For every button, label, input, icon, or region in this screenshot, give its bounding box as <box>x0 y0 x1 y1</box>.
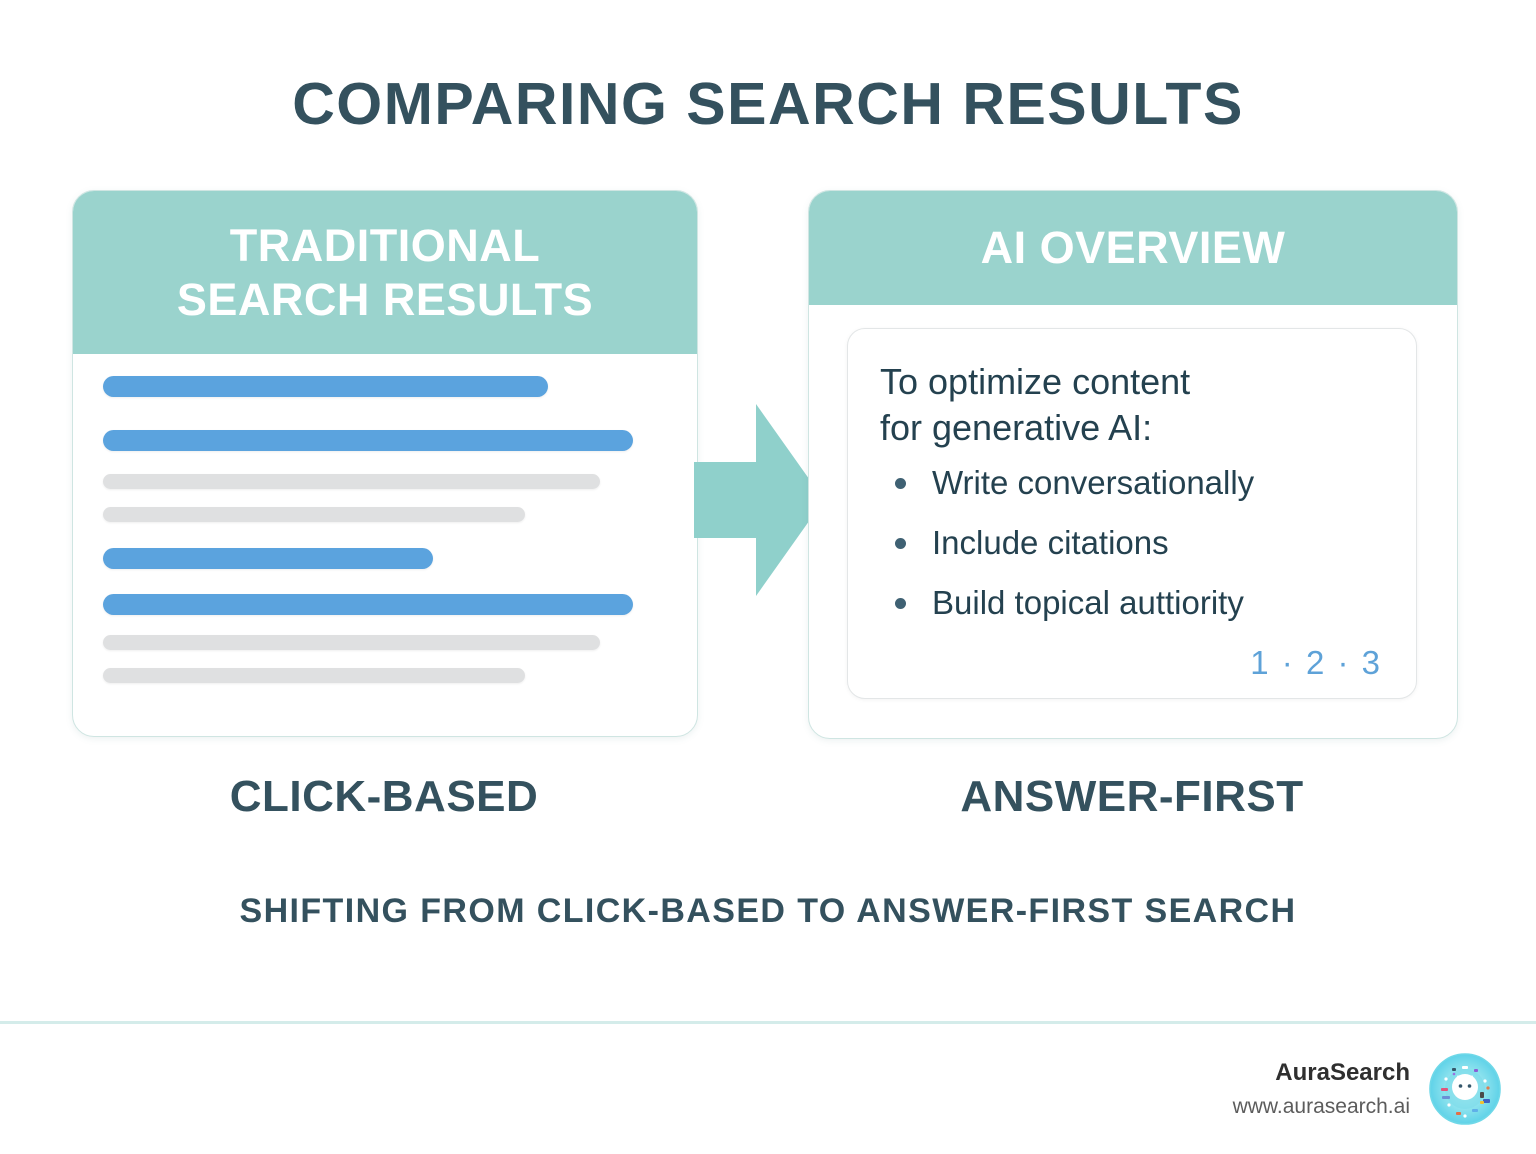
footer-divider <box>0 1021 1536 1024</box>
ai-overview-bullet-item: Build topical auttiority <box>892 585 1386 622</box>
citation-markers: 1 · 2 · 3 <box>1250 644 1382 682</box>
skeleton-line-4 <box>103 507 525 522</box>
ai-overview-bullet-label: Include citations <box>932 524 1169 561</box>
skeleton-line-6[interactable] <box>103 594 633 615</box>
ai-overview-bullet-label: Write conversationally <box>932 464 1254 501</box>
ai-overview-bullet-label: Build topical auttiority <box>932 584 1244 621</box>
ai-overview-answer-panel: To optimize content for generative AI: W… <box>847 328 1417 699</box>
skeleton-line-2[interactable] <box>103 430 633 451</box>
footer-text-block: AuraSearch www.aurasearch.ai <box>1233 1057 1410 1122</box>
infographic-canvas: COMPARING SEARCH RESULTS TRADITIONAL SEA… <box>0 0 1536 1154</box>
bullet-dot-icon <box>895 598 906 609</box>
traditional-search-card: TRADITIONAL SEARCH RESULTS <box>72 190 698 737</box>
ai-overview-card: AI OVERVIEW To optimize content for gene… <box>808 190 1458 739</box>
skeleton-line-7 <box>103 635 600 650</box>
skeleton-line-8 <box>103 668 525 683</box>
skeleton-line-3 <box>103 474 600 489</box>
left-column-caption: CLICK-BASED <box>72 772 696 822</box>
page-title: COMPARING SEARCH RESULTS <box>0 70 1536 138</box>
brand-url: www.aurasearch.ai <box>1233 1093 1410 1121</box>
bullet-dot-icon <box>895 538 906 549</box>
bullet-dot-icon <box>895 478 906 489</box>
ai-overview-bullet-item: Write conversationally <box>892 465 1386 502</box>
ai-overview-bullet-item: Include citations <box>892 525 1386 562</box>
arrow-right-icon <box>694 404 824 596</box>
ai-overview-lead-text: To optimize content for generative AI: <box>880 359 1386 451</box>
footer-branding: AuraSearch www.aurasearch.ai <box>1233 1052 1502 1126</box>
traditional-search-card-header: TRADITIONAL SEARCH RESULTS <box>73 191 697 354</box>
skeleton-line-5[interactable] <box>103 548 433 569</box>
ai-overview-card-header: AI OVERVIEW <box>809 191 1457 305</box>
brand-name: AuraSearch <box>1233 1057 1410 1089</box>
search-results-skeleton <box>73 354 697 736</box>
right-column-caption: ANSWER-FIRST <box>808 772 1456 822</box>
ai-overview-bullet-list: Write conversationallyInclude citationsB… <box>880 465 1386 622</box>
skeleton-line-1[interactable] <box>103 376 548 397</box>
aurasearch-circle-logo-icon <box>1428 1052 1502 1126</box>
page-subtitle: SHIFTING FROM CLICK-BASED TO ANSWER-FIRS… <box>0 892 1536 931</box>
